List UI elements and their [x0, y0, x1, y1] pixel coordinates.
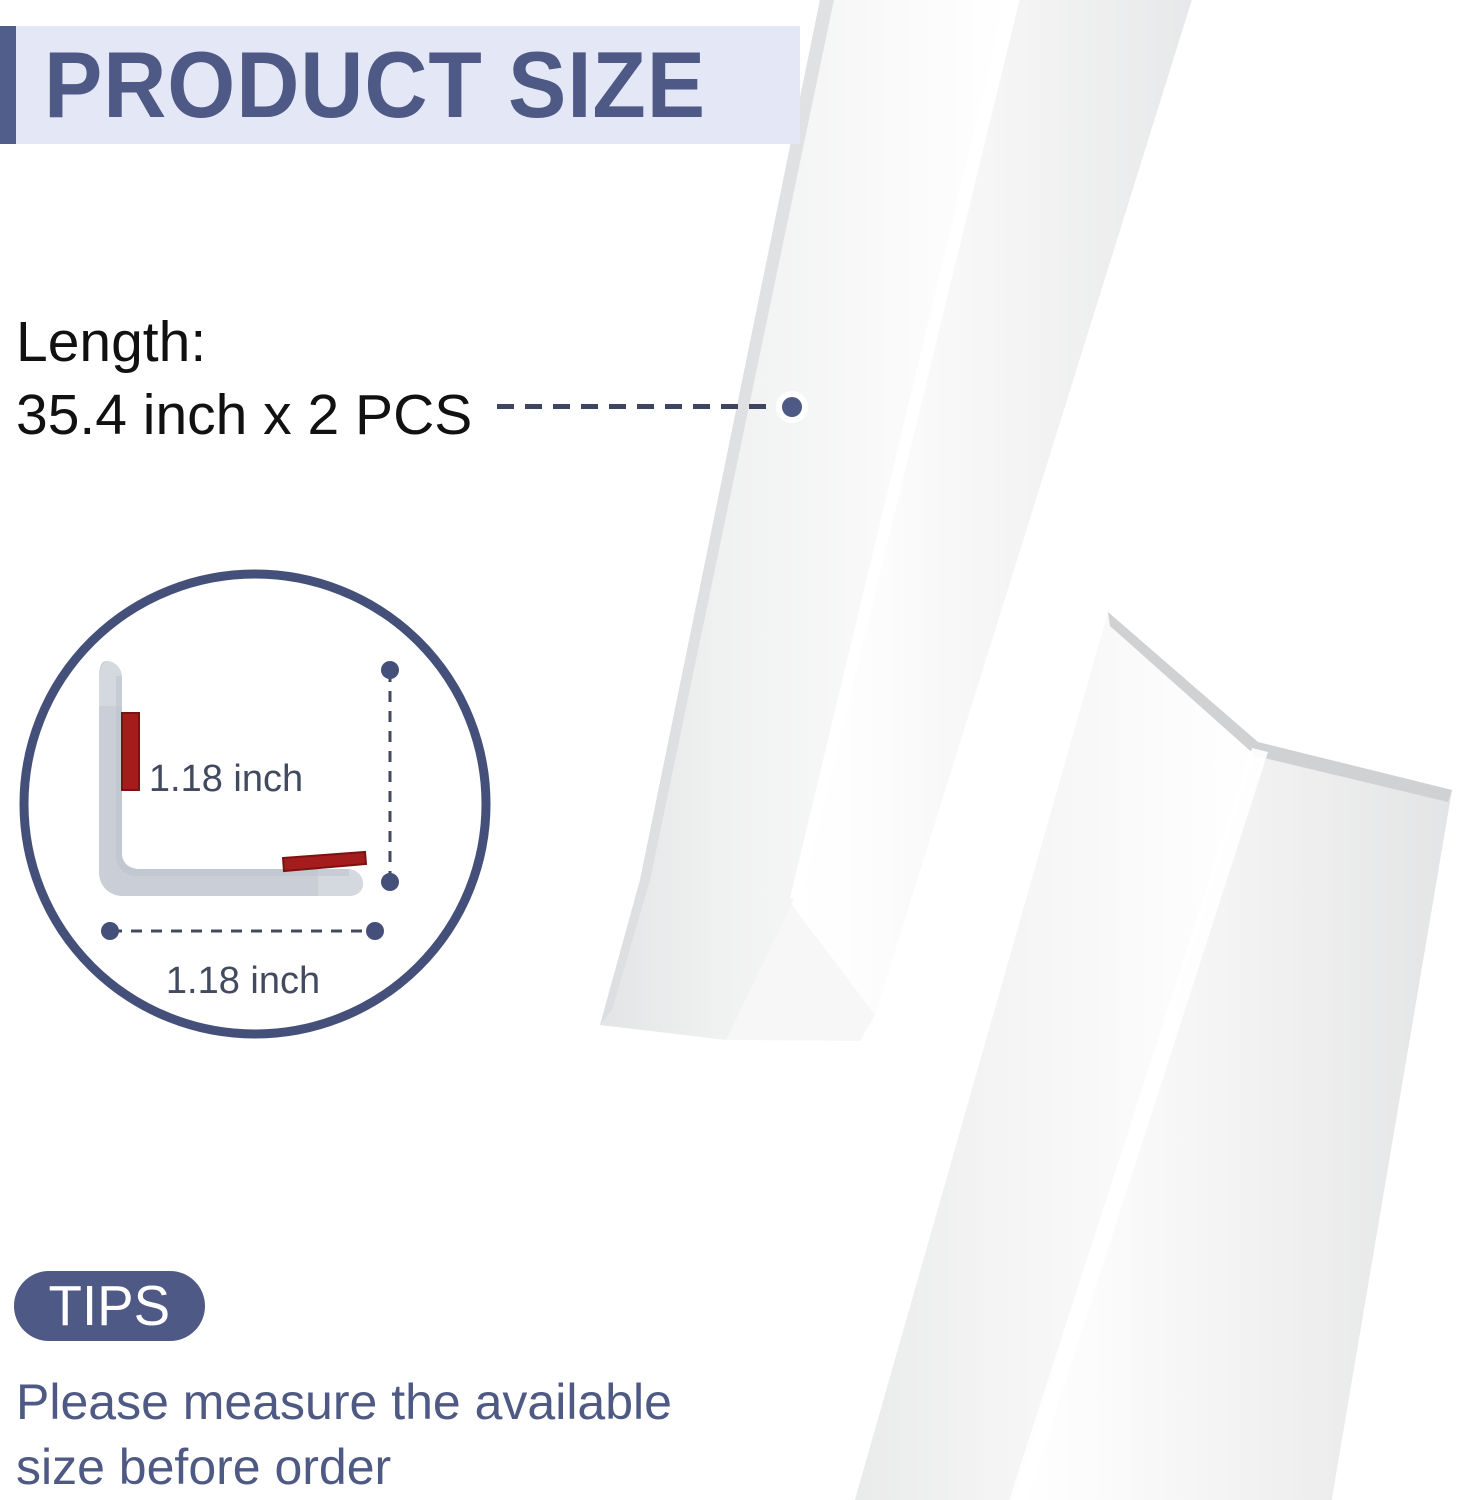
- adhesive-strip-horizontal: [283, 852, 366, 871]
- length-label: Length:: [16, 306, 472, 379]
- height-dimension-label: 1.18 inch: [149, 758, 303, 800]
- leader-line: [497, 404, 787, 409]
- tips-text: Please measure the available size before…: [16, 1370, 786, 1500]
- header-accent-bar: [0, 26, 16, 144]
- adhesive-strip-vertical: [122, 713, 139, 790]
- page-title: PRODUCT SIZE: [44, 38, 706, 132]
- tips-text-line-2: size before order: [16, 1435, 786, 1500]
- dimension-height: [381, 661, 399, 891]
- length-spec: Length: 35.4 inch x 2 PCS: [16, 306, 472, 452]
- width-dimension-label: 1.18 inch: [166, 960, 320, 1002]
- section-header: PRODUCT SIZE: [0, 26, 800, 144]
- product-strip-1: [600, 0, 1195, 1041]
- tips-badge: TIPS: [14, 1271, 205, 1341]
- tips-text-line-1: Please measure the available: [16, 1370, 786, 1435]
- product-strip-2: [852, 612, 1452, 1500]
- cross-section-callout: 1.18 inch 1.18 inch: [18, 566, 492, 1040]
- infographic-canvas: PRODUCT SIZE Length: 35.4 inch x 2 PCS: [0, 0, 1470, 1500]
- dimension-width: [101, 922, 384, 940]
- leader-dash: [497, 404, 787, 409]
- length-value: 35.4 inch x 2 PCS: [16, 379, 472, 452]
- tips-badge-label: TIPS: [49, 1278, 171, 1335]
- leader-endpoint-dot: [776, 391, 808, 423]
